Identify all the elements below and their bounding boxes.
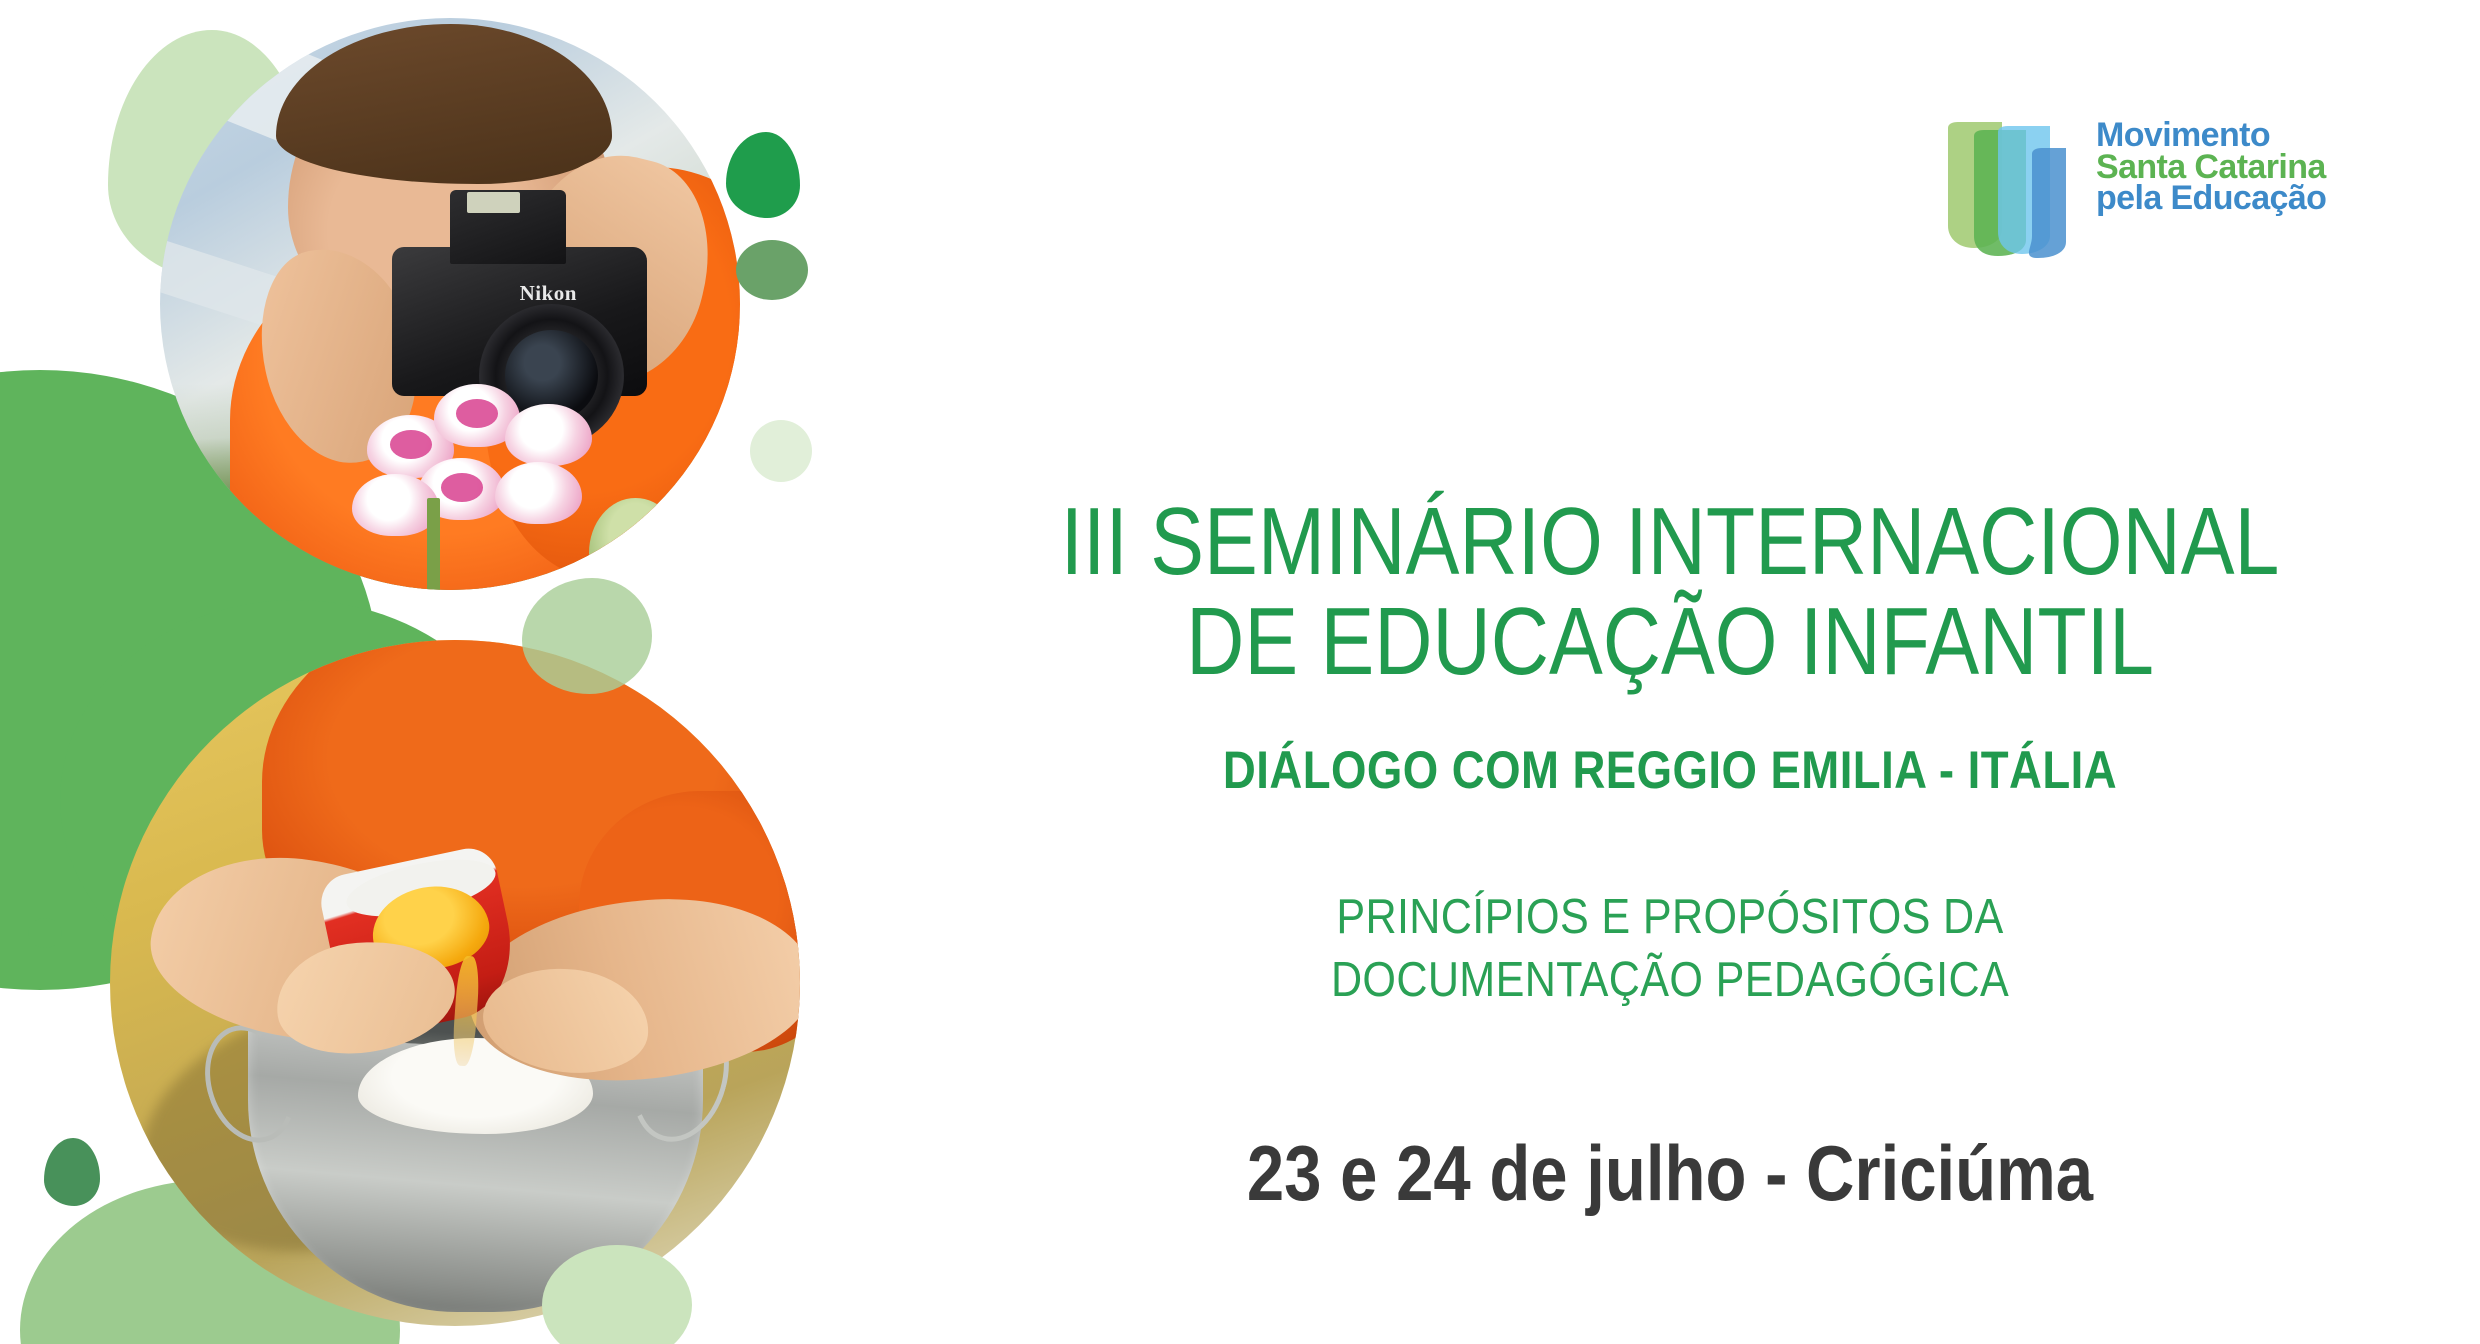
event-title: III SEMINÁRIO INTERNACIONAL DE EDUCAÇÃO … [990, 492, 2351, 692]
photo1-petal [495, 462, 582, 524]
photo1-camera-flash [467, 192, 519, 213]
blob-sage-dot [736, 240, 808, 300]
photo1-petal [352, 474, 439, 536]
blob-small-dot [28, 918, 62, 948]
event-theme: PRINCÍPIOS E PROPÓSITOS DA DOCUMENTAÇÃO … [957, 886, 2383, 1011]
photo-child-baking [110, 640, 800, 1326]
blob-pale-dot-right [750, 420, 812, 482]
text-content-column: III SEMINÁRIO INTERNACIONAL DE EDUCAÇÃO … [860, 0, 2480, 1344]
photo1-flower-stem [427, 498, 440, 590]
photo-boy-with-camera: Nikon [160, 18, 740, 590]
event-poster: Nikon [0, 0, 2480, 1344]
event-subtitle: DIÁLOGO COM REGGIO EMILIA - ITÁLIA [973, 740, 2366, 801]
photo1-petal [505, 404, 592, 466]
photo1-geranium-flower [357, 373, 612, 567]
photo1-camera-brand-label: Nikon [520, 281, 577, 306]
event-date-location: 23 e 24 de julho - Criciúma [973, 1128, 2366, 1219]
blob-dark-egg [44, 1138, 100, 1206]
blob-pale-mid [522, 578, 652, 694]
